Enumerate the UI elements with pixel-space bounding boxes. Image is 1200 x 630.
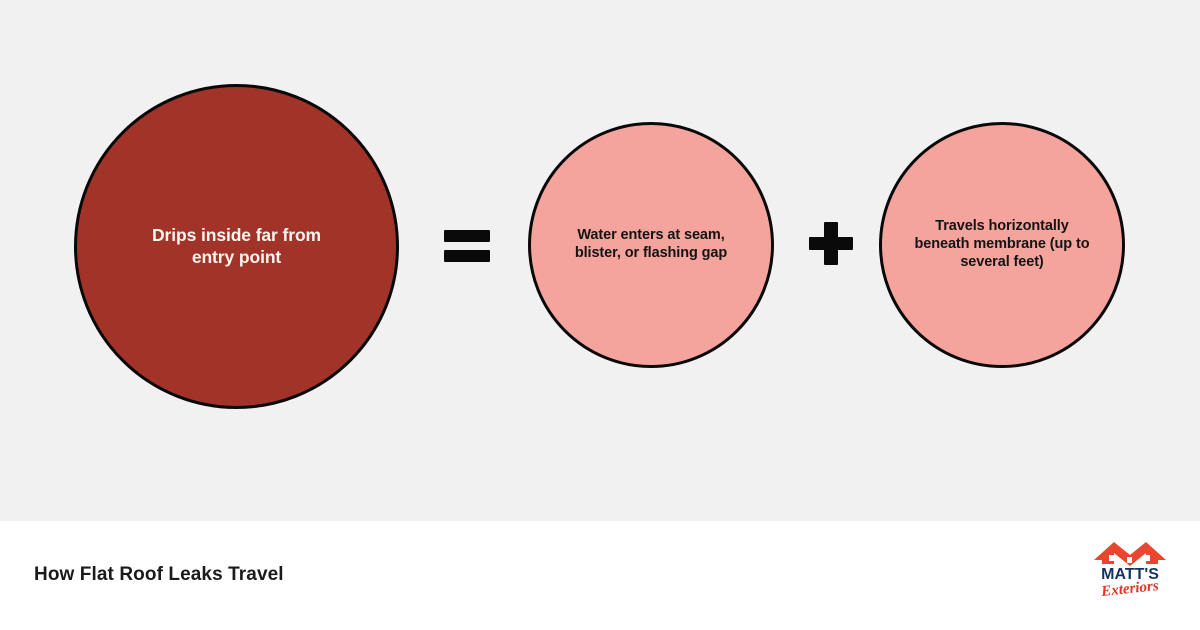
operator-equals (440, 214, 494, 276)
diagram-canvas: Drips inside far from entry point Water … (0, 0, 1200, 521)
footer-bar: How Flat Roof Leaks Travel MATT'S Exteri… (0, 521, 1200, 630)
node-result-drips-inside[interactable]: Drips inside far from entry point (74, 84, 399, 409)
roof-icon (1094, 542, 1166, 566)
node-cause-horizontal-travel[interactable]: Travels horizontally beneath membrane (u… (879, 122, 1125, 368)
equals-icon-bar-bottom (444, 250, 490, 262)
plus-icon-bar-vertical (824, 222, 838, 265)
operator-plus (804, 212, 858, 274)
node-cause-horizontal-travel-label: Travels horizontally beneath membrane (u… (904, 218, 1100, 271)
page-title: How Flat Roof Leaks Travel (34, 564, 284, 586)
node-cause-water-entry-label: Water enters at seam, blister, or flashi… (553, 227, 749, 262)
matts-exteriors-logo[interactable]: MATT'S Exteriors (1084, 533, 1176, 597)
node-result-label: Drips inside far from entry point (122, 225, 352, 268)
node-cause-water-entry[interactable]: Water enters at seam, blister, or flashi… (528, 122, 774, 368)
equals-icon-bar-top (444, 230, 490, 242)
infographic-root: Drips inside far from entry point Water … (0, 0, 1200, 630)
